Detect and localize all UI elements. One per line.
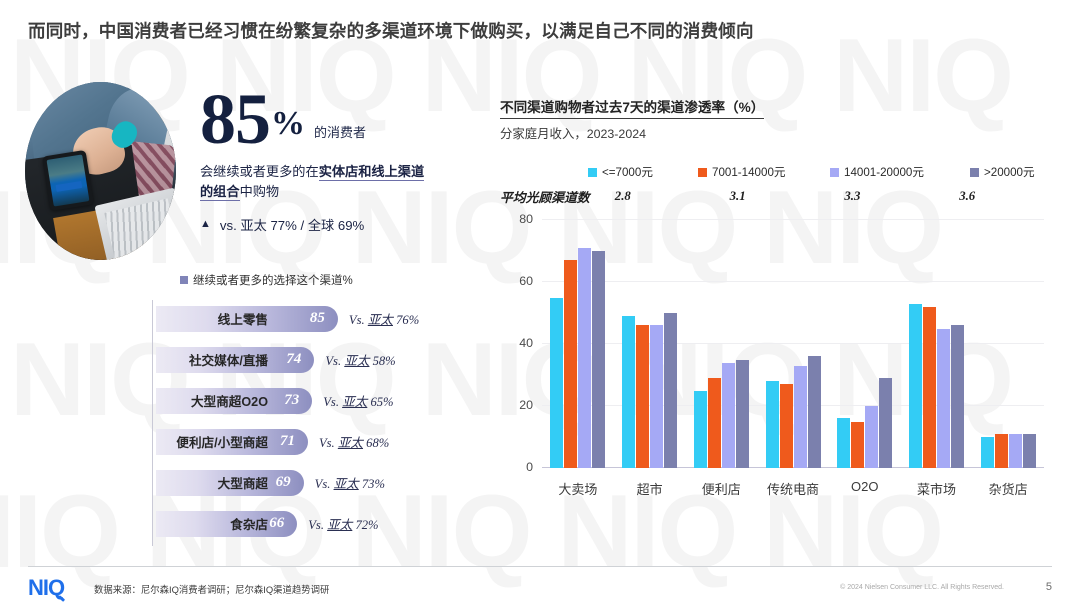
hbar-row-label: 大型商超	[152, 473, 268, 492]
shopper-with-phone-photo	[25, 82, 176, 260]
legend-item[interactable]: >20000元	[970, 164, 1035, 180]
hbar-row: 食杂店66Vs. 亚太 72%	[152, 503, 478, 544]
column-bar	[736, 360, 749, 469]
stat-desc-pre: 会继续或者更多的在	[200, 164, 319, 179]
channel-preference-bar-chart: 继续或者更多的选择这个渠道% 线上零售85Vs. 亚太 76%社交媒体/直播74…	[28, 272, 478, 544]
legend-label: >20000元	[984, 164, 1035, 180]
hbar-benchmark-label: Vs. 亚太 72%	[308, 514, 378, 533]
stat-desc-bold-1: 实体店	[319, 164, 359, 181]
legend-swatch-icon	[830, 168, 839, 177]
logo-q-tail	[58, 595, 65, 602]
hbar-benchmark-label: Vs. 亚太 73%	[315, 473, 385, 492]
hbar-benchmark-label: Vs. 亚太 68%	[319, 432, 389, 451]
stat-comparison: ▲ vs. 亚太 77% / 全球 69%	[200, 215, 470, 234]
column-bar	[808, 356, 821, 468]
column-bar	[937, 329, 950, 469]
column-bar	[636, 325, 649, 468]
hbar-row-label: 社交媒体/直播	[152, 350, 268, 369]
legend-item[interactable]: <=7000元	[588, 164, 698, 180]
average-channels-row: 平均光顾渠道数 2.83.13.33.6	[500, 187, 1052, 206]
triangle-up-icon: ▲	[200, 218, 211, 230]
hbar-row: 便利店/小型商超71Vs. 亚太 68%	[152, 421, 478, 462]
average-channels-value: 3.1	[708, 189, 823, 204]
column-chart-title: 不同渠道购物者过去7天的渠道渗透率（%）	[500, 96, 764, 119]
hbar-benchmark-label: Vs. 亚太 65%	[323, 391, 393, 410]
column-chart-legend: <=7000元7001-14000元14001-20000元>20000元	[500, 164, 1052, 180]
column-bar	[722, 363, 735, 468]
slide: 而同时，中国消费者已经习惯在纷繁复杂的多渠道环境下做购买，以满足自己不同的消费倾…	[0, 0, 1080, 608]
column-bar	[837, 418, 850, 468]
hbar-value-label: 85	[310, 310, 325, 327]
hbar-benchmark-label: Vs. 亚太 58%	[325, 350, 395, 369]
column-category-group: 菜市场	[901, 220, 973, 468]
column-bar	[851, 422, 864, 469]
page-title: 而同时，中国消费者已经习惯在纷繁复杂的多渠道环境下做购买，以满足自己不同的消费倾…	[28, 18, 754, 43]
average-channels-value: 2.8	[593, 189, 708, 204]
legend-label: <=7000元	[602, 164, 653, 180]
legend-swatch-icon	[698, 168, 707, 177]
hbar-row-label: 大型商超O2O	[152, 391, 268, 410]
column-bar	[664, 313, 677, 468]
stat-number: 85	[200, 86, 270, 152]
column-chart-subtitle: 分家庭月收入，2023-2024	[500, 124, 1052, 142]
footer-divider	[28, 566, 1052, 567]
legend-label: 14001-20000元	[844, 164, 924, 180]
footer-copyright: © 2024 Nielsen Consumer LLC. All Rights …	[840, 584, 1004, 591]
hbar-value-label: 73	[284, 392, 299, 409]
column-bar	[694, 391, 707, 469]
column-bar	[981, 437, 994, 468]
average-channels-value: 3.6	[937, 189, 1052, 204]
x-axis-category-label: O2O	[829, 479, 901, 494]
x-axis-category-label: 超市	[614, 479, 686, 498]
y-axis-tick-label: 80	[519, 212, 533, 226]
column-bar	[766, 381, 779, 468]
column-bar	[550, 298, 563, 469]
hbar-value-label: 69	[276, 474, 291, 491]
column-bar	[650, 325, 663, 468]
niq-logo: NIQ	[28, 577, 64, 599]
legend-swatch-icon	[588, 168, 597, 177]
column-category-group: 便利店	[685, 220, 757, 468]
column-bar	[865, 406, 878, 468]
legend-item[interactable]: 7001-14000元	[698, 164, 830, 180]
stat-suffix-label: 的消费者	[314, 122, 366, 141]
y-axis-tick-label: 40	[519, 336, 533, 350]
hbar-plot-area: 线上零售85Vs. 亚太 76%社交媒体/直播74Vs. 亚太 58%大型商超O…	[28, 298, 478, 544]
column-bar	[923, 307, 936, 468]
hbar-row-label: 便利店/小型商超	[152, 432, 268, 451]
footer: NIQ 数据来源：尼尔森IQ消费者调研；尼尔森IQ渠道趋势调研 © 2024 N…	[28, 576, 1052, 604]
y-axis-tick-label: 20	[519, 398, 533, 412]
column-bar	[1023, 434, 1036, 468]
hbar-row: 线上零售85Vs. 亚太 76%	[152, 298, 478, 339]
hbar-row: 社交媒体/直播74Vs. 亚太 58%	[152, 339, 478, 380]
channel-penetration-column-chart: 不同渠道购物者过去7天的渠道渗透率（%） 分家庭月收入，2023-2024 <=…	[500, 96, 1052, 510]
column-category-group: 超市	[614, 220, 686, 468]
hbar-legend: 继续或者更多的选择这个渠道%	[180, 272, 478, 288]
headline-statistic: 85 % 的消费者 会继续或者更多的在实体店和线上渠道的组合中购物 ▲ vs. …	[200, 86, 470, 234]
legend-item[interactable]: 14001-20000元	[830, 164, 970, 180]
column-bar	[1009, 434, 1022, 468]
hbar-row: 大型商超O2O73Vs. 亚太 65%	[152, 380, 478, 421]
y-axis-tick-label: 0	[526, 460, 533, 474]
x-axis-category-label: 大卖场	[542, 479, 614, 498]
x-axis-category-label: 菜市场	[901, 479, 973, 498]
column-plot-area: 020406080 大卖场超市便利店传统电商O2O菜市场杂货店	[500, 220, 1052, 510]
column-bar	[564, 260, 577, 468]
x-axis-category-label: 便利店	[685, 479, 757, 498]
legend-swatch-icon	[970, 168, 979, 177]
stat-description: 会继续或者更多的在实体店和线上渠道的组合中购物	[200, 162, 430, 202]
column-bar	[708, 378, 721, 468]
hbar-row-label: 线上零售	[152, 309, 268, 328]
column-bar	[879, 378, 892, 468]
column-category-group: O2O	[829, 220, 901, 468]
stat-desc-post: 中购物	[240, 184, 280, 199]
stat-percent-sign: %	[271, 105, 305, 143]
hbar-benchmark-label: Vs. 亚太 76%	[349, 309, 419, 328]
column-bar	[909, 304, 922, 468]
legend-label: 7001-14000元	[712, 164, 786, 180]
column-category-group: 大卖场	[542, 220, 614, 468]
hbar-value-label: 66	[269, 515, 284, 532]
x-axis-category-label: 杂货店	[972, 479, 1044, 498]
column-category-group: 杂货店	[972, 220, 1044, 468]
average-channels-label: 平均光顾渠道数	[500, 187, 593, 206]
column-bar	[578, 248, 591, 468]
hbar-row: 大型商超69Vs. 亚太 73%	[152, 462, 478, 503]
column-bar	[951, 325, 964, 468]
stat-comparison-text: vs. 亚太 77% / 全球 69%	[220, 215, 364, 234]
column-bar	[592, 251, 605, 468]
hbar-row-label: 食杂店	[152, 514, 268, 533]
column-bar	[780, 384, 793, 468]
hbar-legend-label: 继续或者更多的选择这个渠道%	[193, 272, 353, 288]
column-category-group: 传统电商	[757, 220, 829, 468]
column-bar	[622, 316, 635, 468]
column-bars: 大卖场超市便利店传统电商O2O菜市场杂货店	[542, 220, 1044, 468]
hbar-value-label: 74	[286, 351, 301, 368]
column-bar	[995, 434, 1008, 468]
footer-page-number: 5	[1046, 581, 1052, 593]
logo-letter-n: N	[28, 575, 43, 600]
average-channels-value: 3.3	[822, 189, 937, 204]
footer-source-note: 数据来源：尼尔森IQ消费者调研；尼尔森IQ渠道趋势调研	[94, 582, 329, 596]
x-axis-category-label: 传统电商	[757, 479, 829, 498]
column-bar	[794, 366, 807, 468]
hbar-value-label: 71	[280, 433, 295, 450]
y-axis-tick-label: 60	[519, 274, 533, 288]
legend-swatch-icon	[180, 276, 188, 284]
